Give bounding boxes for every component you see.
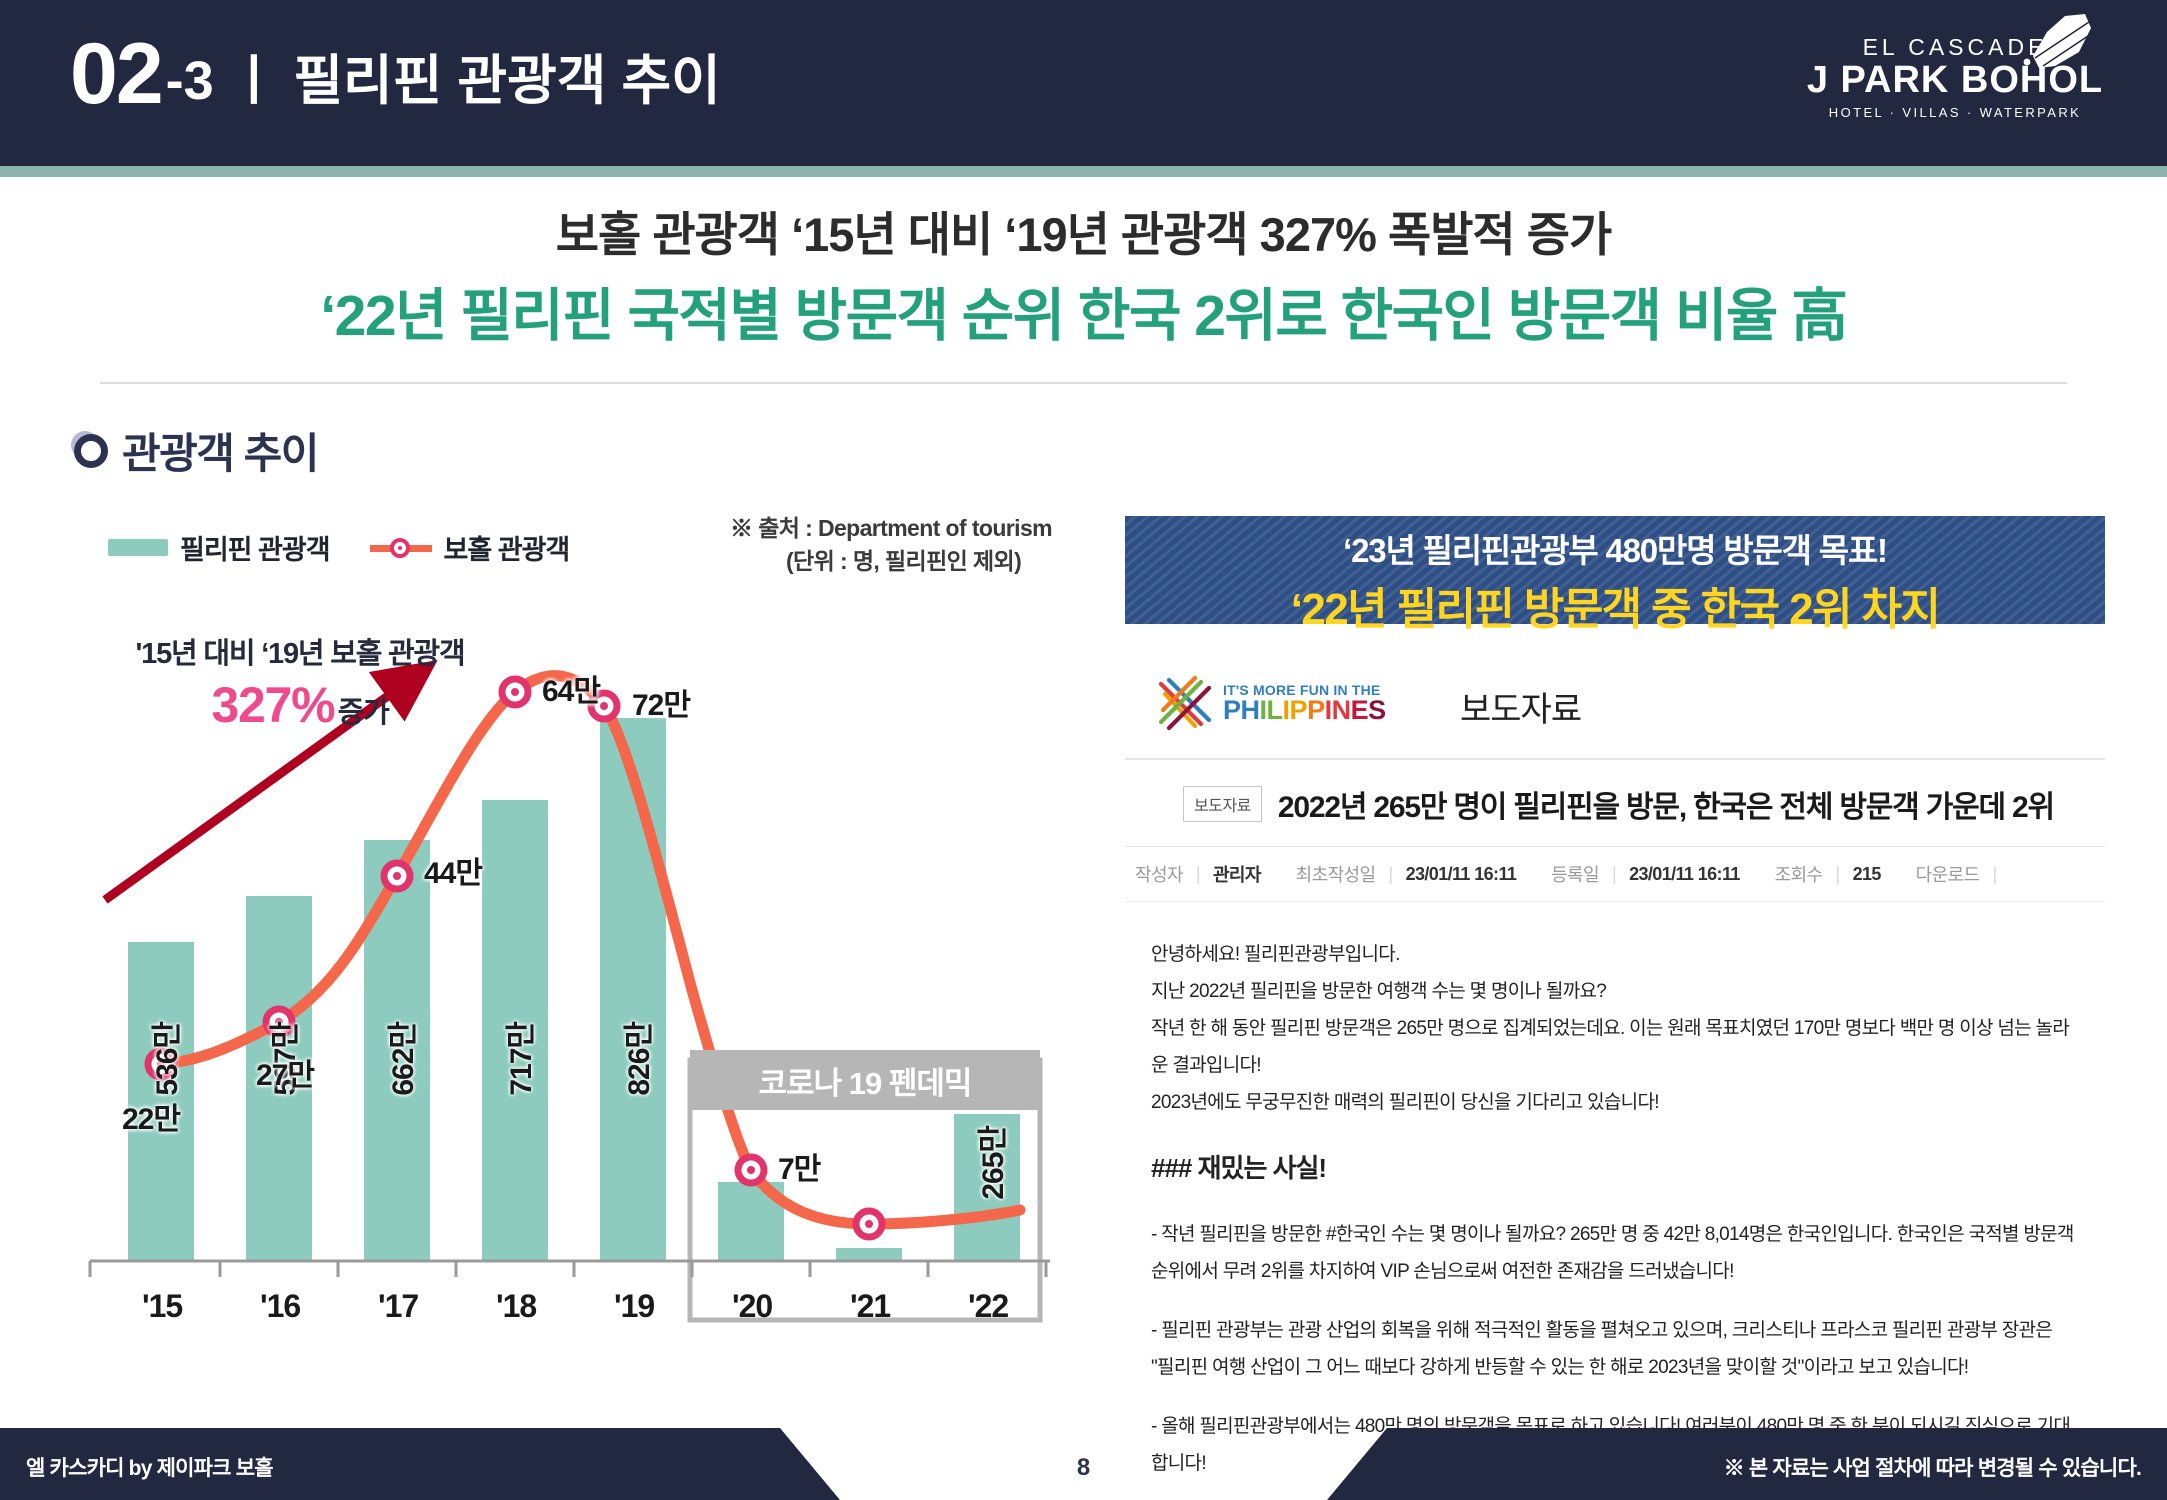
press-banner: ‘23년 필리핀관광부 480만명 방문객 목표! ‘22년 필리핀 방문객 중… [1125,516,2105,624]
page-title-text: -3 ㅣ 필리핀 관광객 추이 [166,53,721,116]
xtick-17: '17 [378,1288,418,1325]
legend-label-bars: 필리핀 관광객 [180,528,330,567]
point-label-15: 22만 [122,1094,180,1138]
legend-item-line: 보홀 관광객 [370,528,570,567]
section-heading-label: 관광객 추이 [122,420,318,481]
tourist-trend-chart: '15년 대비 ‘19년 보홀 관광객 327% 증가 코로나 19 펜데믹 5… [80,570,1060,1370]
press-headline-text[interactable]: 2022년 265만 명이 필리핀을 방문, 한국은 전체 방문객 가운데 2위 [1278,782,2054,826]
press-banner-line-2: ‘22년 필리핀 방문객 중 한국 2위 차지 [1125,573,2105,637]
bar-label-19: 826만 [614,1022,658,1096]
xtick-19: '19 [614,1288,654,1325]
press-body: 안녕하세요! 필리핀관광부입니다. 지난 2022년 필리핀을 방문한 여행객 … [1125,902,2105,1500]
source-note: ※ 출처 : Department of tourism (단위 : 명, 필리… [730,512,1052,579]
growth-annotation-percent: 327% [211,677,334,733]
press-body-p1-line-2: 지난 2022년 필리핀을 방문한 여행객 수는 몇 명이나 될까요? [1151,973,2079,1010]
point-label-20: 7만 [778,1144,820,1188]
meta-key-download[interactable]: 다운로드 [1916,861,1980,887]
growth-annotation-suffix: 증가 [338,697,389,729]
legend-label-line: 보홀 관광객 [444,528,570,567]
meta-value-created: 23/01/11 16:11 [1406,864,1517,885]
press-body-paragraph-3: - 필리핀 관광부는 관광 산업의 회복을 위해 적극적인 활동을 펼쳐오고 있… [1151,1312,2079,1386]
legend-bar-swatch [108,539,168,556]
section-heading: 관광객 추이 [74,420,318,481]
circle-bullet-icon [74,434,108,468]
bar-label-17: 662만 [378,1022,422,1096]
legend-line-swatch [370,537,432,559]
logo-line-3: HOTEL · VILLAS · WATERPARK [1805,105,2105,120]
brand-logo: EL CASCADE J PARK BOHOL HOTEL · VILLAS ·… [1805,34,2105,120]
philippines-logo: IT'S MORE FUN IN THE PHILIPPINES [1155,674,1386,732]
press-body-paragraph-1: 안녕하세요! 필리핀관광부입니다. 지난 2022년 필리핀을 방문한 여행객 … [1151,936,2079,1121]
bar-19 [600,718,666,1260]
meta-key-views: 조회수 [1775,861,1823,887]
xtick-21: '21 [850,1288,890,1325]
bar-label-22: 265만 [968,1126,1012,1200]
press-headline-tag: 보도자료 [1183,786,1262,822]
point-label-16: 27만 [256,1050,314,1094]
press-release-title: 보도자료 [1460,682,1581,731]
point-label-17: 44만 [424,848,482,892]
slide-root: 02 -3 ㅣ 필리핀 관광객 추이 EL CASCADE J PARK BOH… [0,0,2167,1500]
philippines-x-icon [1155,674,1213,732]
meta-key-registered: 등록일 [1551,861,1599,887]
press-body-p1-line-4: 2023년에도 무궁무진한 매력의 필리핀이 당신을 기다리고 있습니다! [1151,1084,2079,1121]
subtitle-line-2: ‘22년 필리핀 국적별 방문객 순위 한국 2위로 한국인 방문객 비율 高 [0,270,2167,352]
source-note-line-1: ※ 출처 : Department of tourism [730,512,1052,545]
bar-label-15: 536만 [142,1022,186,1096]
press-body-p1-line-3: 작년 한 해 동안 필리핀 방문객은 265만 명으로 집계되었는데요. 이는 … [1151,1010,2079,1084]
growth-annotation: '15년 대비 ‘19년 보홀 관광객 327% 증가 [90,630,510,734]
xtick-15: '15 [142,1288,182,1325]
press-body-paragraph-2: - 작년 필리핀을 방문한 #한국인 수는 몇 명이나 될까요? 265만 명 … [1151,1216,2079,1290]
bar-21 [836,1248,902,1260]
page-title-number: 02 [70,34,162,116]
footer-page-number: 8 [0,1454,2167,1482]
page-title: 02 -3 ㅣ 필리핀 관광객 추이 [70,34,721,116]
philippines-logo-text: IT'S MORE FUN IN THE PHILIPPINES [1223,683,1386,724]
point-label-18: 64만 [542,666,600,710]
chart-legend: 필리핀 관광객 보홀 관광객 [108,528,569,567]
meta-key-author: 작성자 [1135,861,1183,887]
xtick-18: '18 [496,1288,536,1325]
press-headline-row: 보도자료 2022년 265만 명이 필리핀을 방문, 한국은 전체 방문객 가… [1125,760,2105,847]
meta-value-author: 관리자 [1213,861,1261,887]
growth-annotation-line-1: '15년 대비 ‘19년 보홀 관광객 [90,630,510,672]
xtick-22: '22 [968,1288,1008,1325]
header-underline [0,166,2167,177]
leaf-icon [2021,12,2099,74]
meta-value-registered: 23/01/11 16:11 [1629,864,1740,885]
point-label-19: 72만 [632,680,690,724]
meta-key-created: 최초작성일 [1296,861,1376,887]
bar-label-18: 717만 [496,1022,540,1096]
xtick-16: '16 [260,1288,300,1325]
press-body-p1-line-1: 안녕하세요! 필리핀관광부입니다. [1151,936,2079,973]
press-banner-line-1: ‘23년 필리핀관광부 480만명 방문객 목표! [1125,524,2105,572]
press-release-card: IT'S MORE FUN IN THE PHILIPPINES 보도자료 보도… [1125,650,2105,1398]
subtitle-divider [100,382,2067,384]
philippines-wordmark: PHILIPPINES [1223,697,1386,724]
legend-item-bars: 필리핀 관광객 [108,528,330,567]
meta-value-views: 215 [1853,864,1881,885]
press-release-logo-row: IT'S MORE FUN IN THE PHILIPPINES 보도자료 [1125,650,2105,760]
press-body-subheading: ### 재밌는 사실! [1151,1143,2079,1194]
xtick-20: '20 [732,1288,772,1325]
covid-box-label: 코로나 19 펜데믹 [690,1050,1040,1110]
subtitle-line-1: 보홀 관광객 ‘15년 대비 ‘19년 관광객 327% 폭발적 증가 [0,196,2167,265]
press-meta-row: 작성자 | 관리자 최초작성일 | 23/01/11 16:11 등록일 | 2… [1125,847,2105,902]
